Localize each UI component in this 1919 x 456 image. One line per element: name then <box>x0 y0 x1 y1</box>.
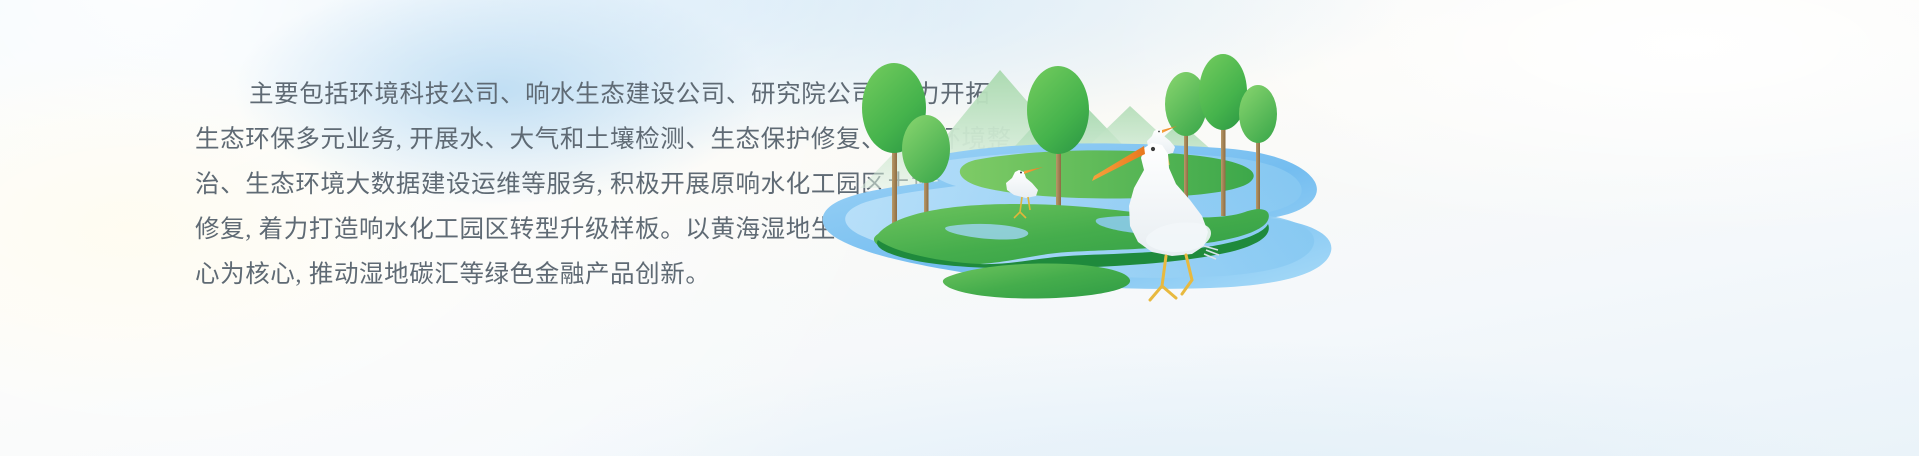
paragraph-line-2: 生态环保多元业务, 开展水、大气和土壤检测、生态保护修复、生态环境整 <box>195 117 800 162</box>
body-paragraph: 主要包括环境科技公司、响水生态建设公司、研究院公司, 全力开拓 生态环保多元业务… <box>195 72 800 297</box>
island-back-grass <box>960 150 1254 198</box>
page-canvas: 主要包括环境科技公司、响水生态建设公司、研究院公司, 全力开拓 生态环保多元业务… <box>0 0 1919 456</box>
crane-large-eye <box>1151 147 1155 151</box>
wetland-ecology-illustration <box>800 18 1380 308</box>
paragraph-line-3: 治、生态环境大数据建设运维等服务, 积极开展原响水化工园区土地生态 <box>195 162 800 207</box>
paragraph-line-4: 修复, 着力打造响水化工园区转型升级样板。以黄海湿地生态资产运营中 <box>195 207 800 252</box>
paragraph-line-1: 主要包括环境科技公司、响水生态建设公司、研究院公司, 全力开拓 <box>195 72 800 117</box>
island-back <box>960 150 1254 198</box>
tree-leaf-l2 <box>902 115 950 183</box>
paragraph-line-5: 心为核心, 推动湿地碳汇等绿色金融产品创新。 <box>195 252 800 297</box>
tree-leaf-r3 <box>1239 85 1277 143</box>
tree-leaf-c1 <box>1027 66 1089 154</box>
crane-left-eye <box>1020 172 1022 174</box>
wetland-svg <box>800 18 1380 308</box>
crane-right-eye <box>1158 131 1160 133</box>
